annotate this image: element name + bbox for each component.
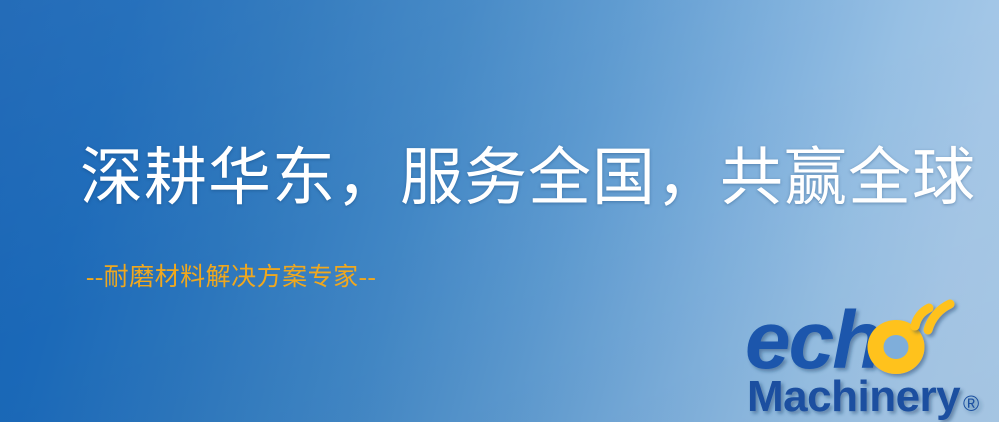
banner-subtitle: --耐磨材料解决方案专家-- <box>86 265 376 290</box>
banner-headline: 深耕华东，服务全国，共赢全球 <box>80 147 976 210</box>
logo-signal-arcs-icon <box>915 304 950 330</box>
echo-machinery-logo: ech Machinery ® <box>745 296 999 422</box>
promo-banner: 深耕华东，服务全国，共赢全球 --耐磨材料解决方案专家-- ech <box>0 0 999 422</box>
logo-subbrand-text: Machinery <box>747 372 961 421</box>
logo-registered-mark: ® <box>963 391 979 416</box>
logo-subbrand: Machinery ® <box>747 372 979 421</box>
